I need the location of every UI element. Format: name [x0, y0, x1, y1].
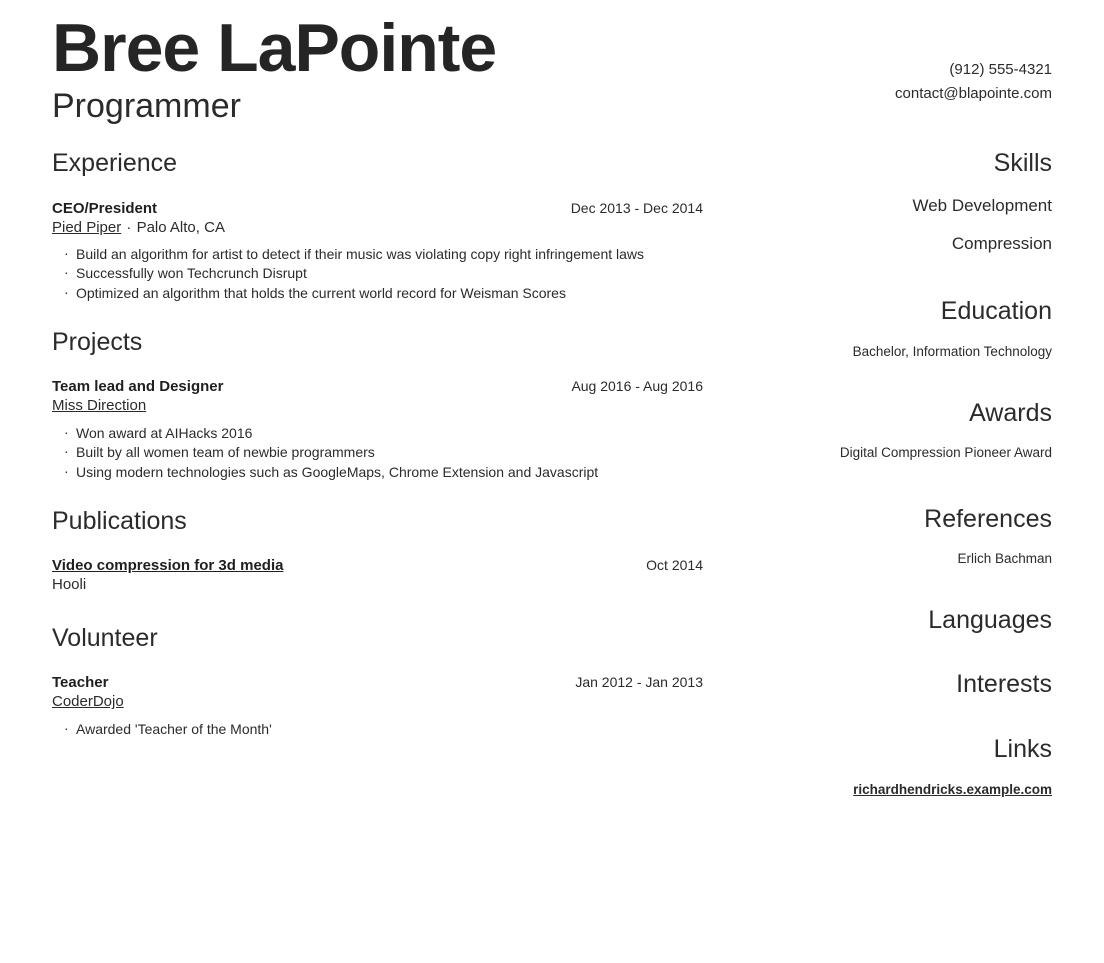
sidebar-entry: Bachelor, Information Technology: [731, 344, 1052, 360]
resume-body: ExperienceCEO/PresidentDec 2013 - Dec 20…: [0, 150, 1104, 798]
main-column: ExperienceCEO/PresidentDec 2013 - Dec 20…: [52, 150, 703, 743]
entry-role: Teacher: [52, 674, 108, 691]
contact-block: (912) 555-4321 contact@blapointe.com: [895, 58, 1052, 107]
entry-bullet-list: Awarded 'Teacher of the Month': [52, 720, 703, 739]
sidebar-link[interactable]: richardhendricks.example.com: [731, 782, 1052, 798]
entry-organization-row: Pied Piper · Palo Alto, CA: [52, 218, 703, 238]
resume-page: Bree LaPointe Programmer (912) 555-4321 …: [0, 0, 1104, 963]
entry-bullet-list: Build an algorithm for artist to detect …: [52, 245, 703, 303]
entry-organization-row: Hooli: [52, 575, 703, 595]
sidebar-section-awards: AwardsDigital Compression Pioneer Award: [731, 400, 1052, 462]
sidebar-section-heading: References: [731, 506, 1052, 534]
section-heading: Projects: [52, 329, 703, 357]
sidebar-column: SkillsWeb DevelopmentCompressionEducatio…: [703, 150, 1052, 798]
section-heading: Publications: [52, 508, 703, 536]
sidebar-entry: Web Development: [731, 196, 1052, 216]
entry-header-row: Video compression for 3d mediaOct 2014: [52, 557, 703, 574]
entry-date: Jan 2012 - Jan 2013: [559, 674, 703, 690]
entry-organization: Hooli: [52, 576, 86, 593]
sidebar-entry-list: richardhendricks.example.com: [731, 782, 1052, 798]
entry-bullet-list: Won award at AIHacks 2016Built by all wo…: [52, 424, 703, 482]
entry-header-row: Team lead and DesignerAug 2016 - Aug 201…: [52, 378, 703, 395]
entry-separator: ·: [125, 219, 132, 236]
list-item: Built by all women team of newbie progra…: [64, 443, 703, 462]
entry-header-row: CEO/PresidentDec 2013 - Dec 2014: [52, 200, 703, 217]
resume-entry: CEO/PresidentDec 2013 - Dec 2014Pied Pip…: [52, 200, 703, 303]
sidebar-section-heading: Skills: [731, 150, 1052, 178]
entry-date: Dec 2013 - Dec 2014: [555, 200, 703, 216]
list-item: Awarded 'Teacher of the Month': [64, 720, 703, 739]
section-volunteer: VolunteerTeacherJan 2012 - Jan 2013Coder…: [52, 625, 703, 739]
list-item: Optimized an algorithm that holds the cu…: [64, 284, 703, 303]
sidebar-entry-list: Web DevelopmentCompression: [731, 196, 1052, 255]
entry-location: Palo Alto, CA: [137, 219, 225, 236]
entry-organization-row: Miss Direction: [52, 396, 703, 416]
entry-organization-row: CoderDojo: [52, 692, 703, 712]
contact-email[interactable]: contact@blapointe.com: [895, 82, 1052, 106]
list-item: Using modern technologies such as Google…: [64, 463, 703, 482]
sidebar-entry-list: Digital Compression Pioneer Award: [731, 445, 1052, 461]
sidebar-entry: Compression: [731, 234, 1052, 254]
sidebar-section-links: Linksrichardhendricks.example.com: [731, 736, 1052, 798]
entry-organization[interactable]: Pied Piper: [52, 219, 121, 236]
resume-entry: TeacherJan 2012 - Jan 2013CoderDojoAward…: [52, 674, 703, 739]
list-item: Build an algorithm for artist to detect …: [64, 245, 703, 264]
sidebar-section-skills: SkillsWeb DevelopmentCompression: [731, 150, 1052, 254]
sidebar-section-heading: Interests: [731, 671, 1052, 699]
sidebar-section-references: ReferencesErlich Bachman: [731, 506, 1052, 568]
resume-header: Bree LaPointe Programmer (912) 555-4321 …: [0, 0, 1104, 150]
entry-organization[interactable]: CoderDojo: [52, 693, 124, 710]
sidebar-section-heading: Links: [731, 736, 1052, 764]
list-item: Won award at AIHacks 2016: [64, 424, 703, 443]
entry-date: Aug 2016 - Aug 2016: [555, 378, 703, 394]
entry-role: CEO/President: [52, 200, 157, 217]
sidebar-section-heading: Awards: [731, 400, 1052, 428]
entry-role: Team lead and Designer: [52, 378, 223, 395]
section-experience: ExperienceCEO/PresidentDec 2013 - Dec 20…: [52, 150, 703, 303]
section-projects: ProjectsTeam lead and DesignerAug 2016 -…: [52, 329, 703, 482]
contact-phone[interactable]: (912) 555-4321: [895, 58, 1052, 82]
sidebar-entry-list: Erlich Bachman: [731, 551, 1052, 567]
sidebar-section-languages: Languages: [731, 607, 1052, 635]
section-heading: Volunteer: [52, 625, 703, 653]
sidebar-section-education: EducationBachelor, Information Technolog…: [731, 298, 1052, 360]
sidebar-entry: Digital Compression Pioneer Award: [731, 445, 1052, 461]
resume-entry: Video compression for 3d mediaOct 2014Ho…: [52, 557, 703, 595]
entry-organization[interactable]: Miss Direction: [52, 397, 146, 414]
entry-role[interactable]: Video compression for 3d media: [52, 557, 283, 574]
list-item: Successfully won Techcrunch Disrupt: [64, 264, 703, 283]
section-heading: Experience: [52, 150, 703, 178]
entry-header-row: TeacherJan 2012 - Jan 2013: [52, 674, 703, 691]
entry-date: Oct 2014: [630, 557, 703, 573]
resume-entry: Team lead and DesignerAug 2016 - Aug 201…: [52, 378, 703, 481]
sidebar-section-interests: Interests: [731, 671, 1052, 699]
section-publications: PublicationsVideo compression for 3d med…: [52, 508, 703, 595]
sidebar-section-heading: Languages: [731, 607, 1052, 635]
sidebar-section-heading: Education: [731, 298, 1052, 326]
sidebar-entry: Erlich Bachman: [731, 551, 1052, 567]
sidebar-entry-list: Bachelor, Information Technology: [731, 344, 1052, 360]
